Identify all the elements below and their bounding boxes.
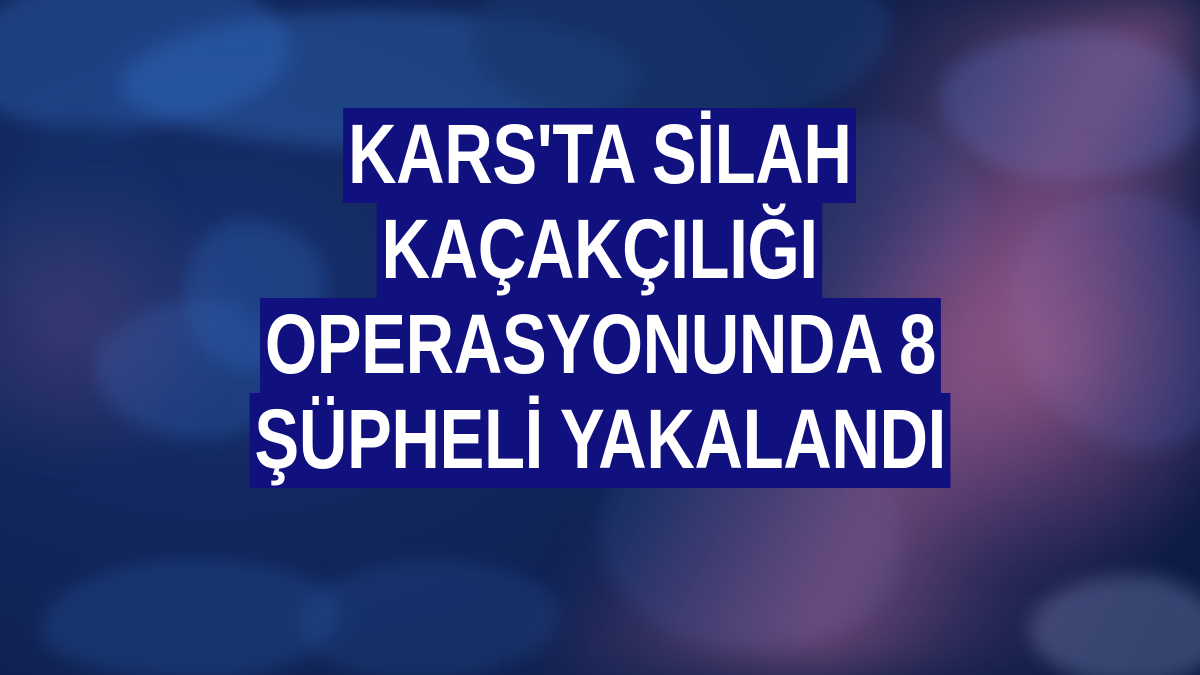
headline-line-2: KAÇAKÇILIĞI [20, 203, 1180, 298]
headline-line-3-text: OPERASYONUNDA 8 [260, 298, 941, 393]
news-headline-card: KARS'TA SİLAH KAÇAKÇILIĞI OPERASYONUNDA … [0, 0, 1200, 675]
headline-block: KARS'TA SİLAH KAÇAKÇILIĞI OPERASYONUNDA … [0, 108, 1200, 488]
headline-line-3: OPERASYONUNDA 8 [20, 298, 1180, 393]
headline-line-4-text: ŞÜPHELİ YAKALANDI [249, 393, 950, 488]
headline-line-1: KARS'TA SİLAH [20, 108, 1180, 203]
headline-line-4: ŞÜPHELİ YAKALANDI [20, 393, 1180, 488]
headline-line-1-text: KARS'TA SİLAH [343, 108, 856, 203]
headline-line-2-text: KAÇAKÇILIĞI [377, 203, 823, 298]
